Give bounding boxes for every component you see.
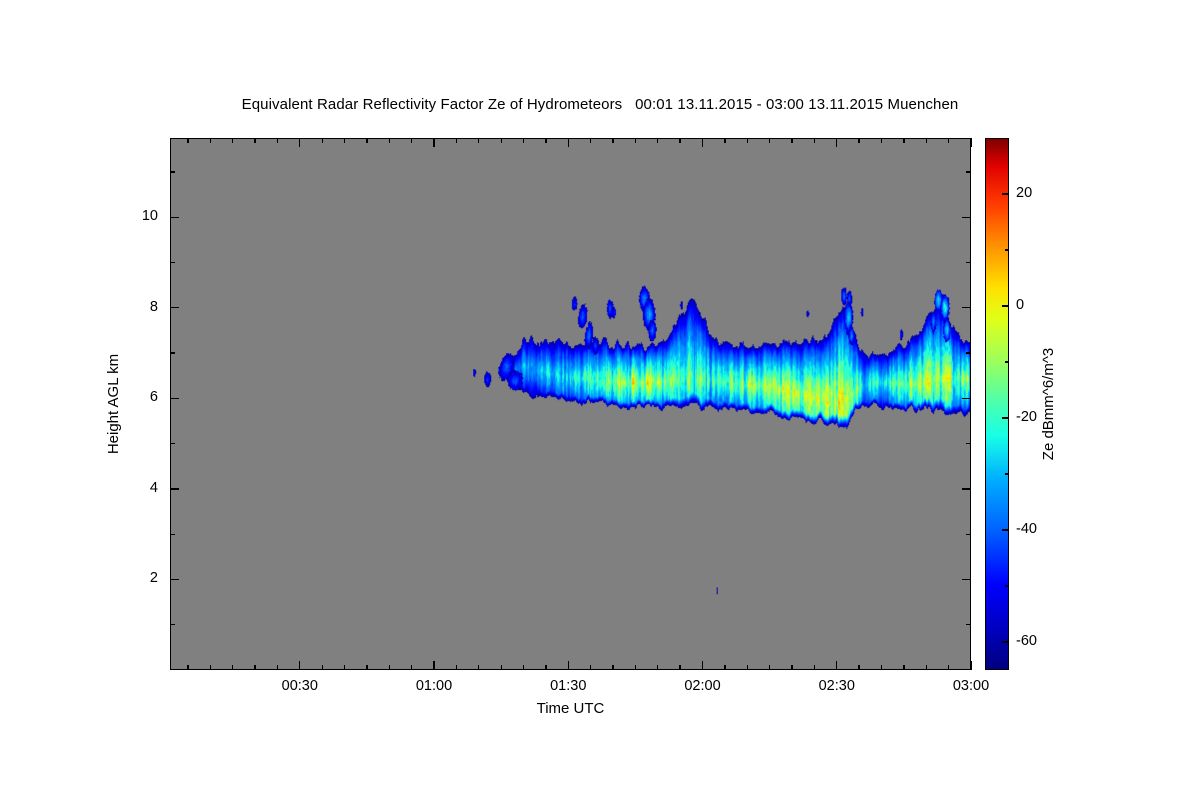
x-axis-tick xyxy=(254,665,255,670)
x-axis-tick xyxy=(769,665,770,670)
x-axis-tick xyxy=(344,665,345,670)
y-tick-label: 8 xyxy=(118,299,158,315)
colorbar-tick xyxy=(1002,641,1009,642)
y-axis-tick xyxy=(170,307,179,308)
x-axis-tick xyxy=(411,665,412,670)
y-axis-tick xyxy=(966,443,971,444)
colorbar-tick-label: 20 xyxy=(1016,185,1032,201)
page-title: Equivalent Radar Reflectivity Factor Ze … xyxy=(0,96,1200,113)
x-axis-tick xyxy=(612,138,613,143)
y-axis-tick xyxy=(170,171,175,172)
x-axis-tick xyxy=(232,138,233,143)
heatmap-plot-area xyxy=(170,138,971,670)
x-axis-tick xyxy=(657,665,658,670)
colorbar-tick xyxy=(1002,529,1009,530)
x-axis-tick xyxy=(501,138,502,143)
x-axis-tick xyxy=(389,138,390,143)
x-axis-tick xyxy=(590,665,591,670)
x-axis-tick xyxy=(769,138,770,143)
x-axis-tick xyxy=(187,138,188,143)
x-axis-tick xyxy=(791,138,792,143)
y-axis-tick xyxy=(966,624,971,625)
y-axis-tick xyxy=(170,579,179,580)
colorbar xyxy=(985,138,1009,670)
x-axis-tick xyxy=(657,138,658,143)
y-axis-tick xyxy=(962,307,971,308)
x-axis-tick xyxy=(903,665,904,670)
x-axis-tick xyxy=(724,665,725,670)
x-axis-tick xyxy=(478,665,479,670)
x-axis-tick xyxy=(747,138,748,143)
x-axis-tick xyxy=(366,665,367,670)
x-axis-title: Time UTC xyxy=(170,700,971,717)
x-axis-tick xyxy=(679,665,680,670)
x-axis-tick xyxy=(210,665,211,670)
y-axis-tick xyxy=(966,262,971,263)
x-tick-label: 00:30 xyxy=(255,678,345,694)
x-tick-label: 02:30 xyxy=(792,678,882,694)
colorbar-tick-label: 0 xyxy=(1016,297,1024,313)
colorbar-tick xyxy=(1005,473,1009,474)
x-tick-label: 03:00 xyxy=(926,678,1016,694)
x-axis-tick xyxy=(948,665,949,670)
y-axis-tick xyxy=(962,217,971,218)
x-tick-label: 02:00 xyxy=(658,678,748,694)
x-axis-tick xyxy=(970,661,971,670)
x-axis-tick xyxy=(322,665,323,670)
x-axis-tick xyxy=(523,138,524,143)
x-axis-tick xyxy=(568,138,569,147)
x-axis-tick xyxy=(791,665,792,670)
y-axis-title: Height AGL km xyxy=(105,354,122,454)
x-axis-tick xyxy=(277,138,278,143)
x-axis-tick xyxy=(322,138,323,143)
x-axis-tick xyxy=(501,665,502,670)
x-axis-tick xyxy=(411,138,412,143)
y-axis-tick xyxy=(170,398,179,399)
x-axis-tick xyxy=(344,138,345,143)
x-axis-tick xyxy=(232,665,233,670)
x-axis-tick xyxy=(881,665,882,670)
x-axis-tick xyxy=(836,661,837,670)
x-axis-tick xyxy=(679,138,680,143)
x-tick-label: 01:00 xyxy=(389,678,479,694)
x-axis-tick xyxy=(523,665,524,670)
colorbar-tick xyxy=(1005,361,1009,362)
x-axis-tick xyxy=(433,138,434,147)
colorbar-tick-label: -40 xyxy=(1016,521,1037,537)
x-axis-tick xyxy=(926,665,927,670)
x-axis-tick xyxy=(635,138,636,143)
x-axis-tick xyxy=(948,138,949,143)
x-axis-tick xyxy=(478,138,479,143)
x-axis-tick xyxy=(858,138,859,143)
x-axis-tick xyxy=(545,138,546,143)
y-axis-tick xyxy=(170,534,175,535)
x-axis-tick xyxy=(903,138,904,143)
x-axis-tick xyxy=(970,138,971,147)
colorbar-title: Ze dBmm^6/m^3 xyxy=(1040,348,1057,460)
x-axis-tick xyxy=(747,665,748,670)
x-axis-tick xyxy=(545,665,546,670)
x-axis-tick xyxy=(724,138,725,143)
y-axis-tick xyxy=(170,217,179,218)
y-axis-tick xyxy=(962,579,971,580)
colorbar-tick xyxy=(1005,249,1009,250)
y-axis-tick xyxy=(962,488,971,489)
x-axis-tick xyxy=(858,665,859,670)
y-axis-tick xyxy=(962,398,971,399)
colorbar-tick-label: -60 xyxy=(1016,633,1037,649)
y-tick-label: 10 xyxy=(118,208,158,224)
y-axis-tick xyxy=(170,352,175,353)
y-tick-label: 4 xyxy=(118,480,158,496)
x-axis-tick xyxy=(187,665,188,670)
x-axis-tick xyxy=(926,138,927,143)
y-axis-tick xyxy=(966,534,971,535)
x-axis-tick xyxy=(254,138,255,143)
x-axis-tick xyxy=(456,665,457,670)
colorbar-tick-label: -20 xyxy=(1016,409,1037,425)
y-axis-tick xyxy=(170,624,175,625)
x-axis-tick xyxy=(210,138,211,143)
x-axis-tick xyxy=(277,665,278,670)
x-axis-tick xyxy=(814,665,815,670)
x-axis-tick xyxy=(702,661,703,670)
x-axis-tick xyxy=(389,665,390,670)
x-axis-tick xyxy=(702,138,703,147)
y-axis-tick xyxy=(170,488,179,489)
y-tick-label: 2 xyxy=(118,570,158,586)
y-axis-tick xyxy=(170,443,175,444)
y-tick-label: 6 xyxy=(118,389,158,405)
y-axis-tick xyxy=(966,352,971,353)
reflectivity-heatmap-canvas xyxy=(171,139,970,669)
x-axis-tick xyxy=(299,138,300,147)
x-axis-tick xyxy=(568,661,569,670)
x-axis-tick xyxy=(433,661,434,670)
x-axis-tick xyxy=(612,665,613,670)
x-axis-tick xyxy=(836,138,837,147)
colorbar-tick xyxy=(1002,193,1009,194)
colorbar-tick xyxy=(1002,417,1009,418)
x-axis-tick xyxy=(366,138,367,143)
x-axis-tick xyxy=(635,665,636,670)
x-axis-tick xyxy=(881,138,882,143)
y-axis-tick xyxy=(170,262,175,263)
colorbar-gradient xyxy=(986,139,1008,669)
x-axis-tick xyxy=(456,138,457,143)
colorbar-tick xyxy=(1002,305,1009,306)
y-axis-tick xyxy=(966,171,971,172)
x-axis-tick xyxy=(299,661,300,670)
x-axis-tick xyxy=(814,138,815,143)
x-tick-label: 01:30 xyxy=(523,678,613,694)
colorbar-tick xyxy=(1005,585,1009,586)
x-axis-tick xyxy=(590,138,591,143)
